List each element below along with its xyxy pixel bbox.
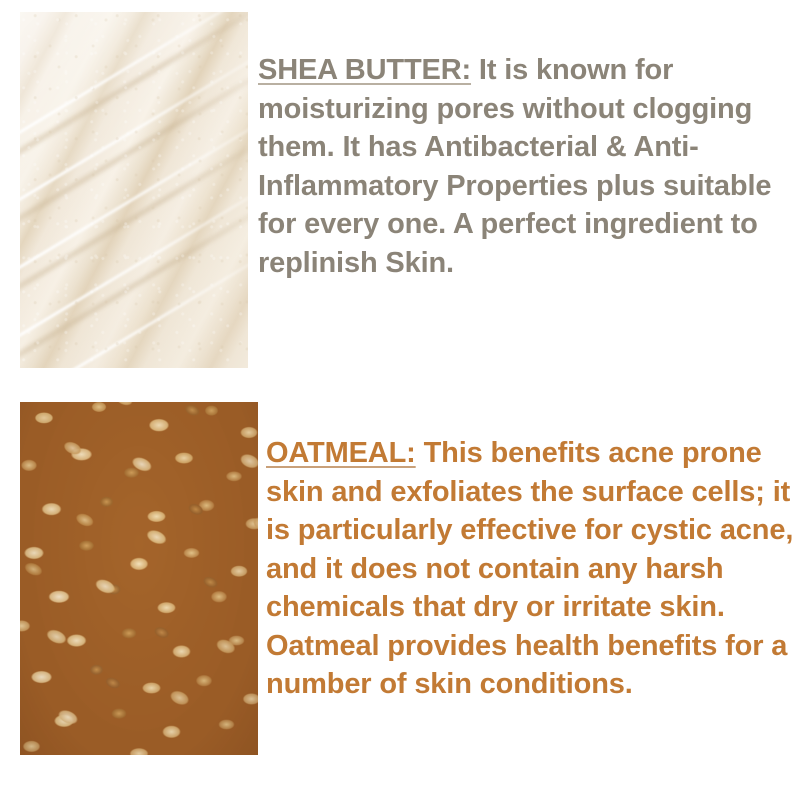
shea-butter-term: SHEA BUTTER: [258, 54, 471, 86]
shea-surface-grain [20, 12, 248, 368]
oatmeal-photo [20, 402, 258, 755]
oatmeal-term: OATMEAL: [266, 437, 416, 469]
oatmeal-photo-vignette [20, 402, 258, 755]
shea-butter-photo [20, 12, 248, 368]
shea-butter-paragraph: SHEA BUTTER: It is known for moisturizin… [258, 51, 798, 282]
oatmeal-paragraph: OATMEAL: This benefits acne prone skin a… [266, 434, 798, 704]
shea-butter-description: It is known for moisturizing pores witho… [258, 54, 771, 279]
ingredient-info-graphic: SHEA BUTTER: It is known for moisturizin… [0, 0, 800, 800]
oatmeal-description: This benefits acne prone skin and exfoli… [266, 437, 793, 700]
